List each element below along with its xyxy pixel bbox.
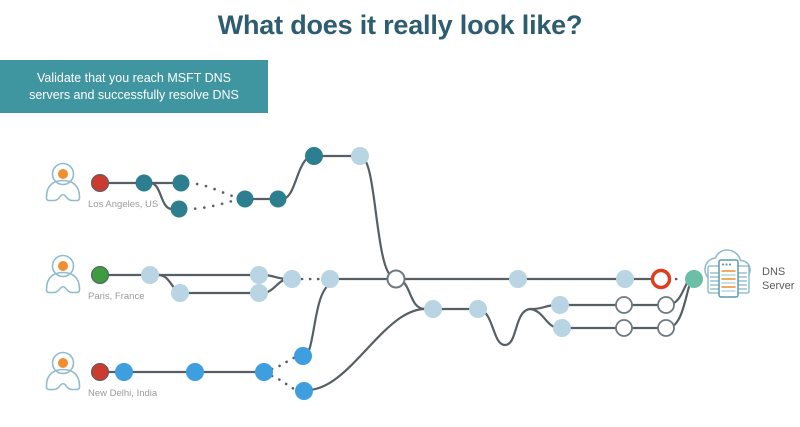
link-la-dotted-up	[188, 183, 240, 198]
node-junction-hollow	[388, 271, 405, 288]
node-tier2-hop-2	[469, 300, 487, 318]
node-delhi-hop-5	[295, 382, 313, 400]
node-la-hop-7	[351, 147, 369, 165]
node-tier2-hollow-b	[658, 297, 674, 313]
link-delhi-dotted-down	[272, 376, 296, 390]
node-delhi-hop-4	[294, 347, 312, 365]
node-tier2-hop-3	[551, 296, 569, 314]
link-la-drop	[360, 156, 396, 279]
node-la-hop-1	[136, 175, 153, 192]
node-layer	[92, 147, 704, 400]
node-paris-origin	[92, 267, 109, 284]
node-delhi-origin	[92, 364, 109, 381]
node-spine-hop-2	[616, 270, 634, 288]
link-la-dotted-down	[186, 199, 240, 209]
node-paris-hop-4	[250, 284, 268, 302]
node-paris-hop-2	[171, 284, 189, 302]
node-delhi-hop-1	[115, 363, 133, 381]
node-delhi-hop-2	[186, 363, 204, 381]
node-la-hop-6	[305, 147, 323, 165]
source-label-paris: Paris, France	[88, 291, 145, 302]
node-la-origin	[92, 175, 109, 192]
node-paris-hop-6	[321, 270, 339, 288]
node-tier2-hollow-d	[658, 320, 674, 336]
link-delhi-up-rise	[303, 283, 332, 357]
avatar-paris	[47, 256, 80, 293]
node-tier2-hop-4	[553, 319, 571, 337]
node-paris-hop-1	[141, 266, 159, 284]
node-tier2-hop-1	[424, 300, 442, 318]
node-la-hop-5	[270, 191, 287, 208]
node-tier2-hollow-a	[616, 297, 632, 313]
node-la-hop-2	[173, 175, 190, 192]
source-label-new-delhi: New Delhi, India	[88, 388, 157, 399]
avatar-new-delhi	[47, 353, 80, 390]
network-path-diagram	[0, 0, 800, 427]
avatar-los-angeles	[47, 164, 80, 201]
node-paris-hop-5	[283, 270, 301, 288]
node-alert	[653, 271, 670, 288]
node-delhi-hop-3	[255, 363, 273, 381]
node-spine-hop-1	[509, 270, 527, 288]
node-la-hop-3	[171, 201, 188, 218]
node-destination-hop	[685, 270, 703, 288]
dns-server-label: DNS Server	[762, 265, 794, 293]
link-delhi-down-rise	[305, 309, 425, 390]
cloud-server-icon	[705, 250, 750, 297]
source-label-los-angeles: Los Angeles, US	[88, 199, 158, 210]
node-tier2-hollow-c	[616, 320, 632, 336]
node-la-hop-4	[237, 191, 254, 208]
link-delhi-dotted-up	[272, 357, 296, 369]
node-paris-hop-3	[250, 266, 268, 284]
